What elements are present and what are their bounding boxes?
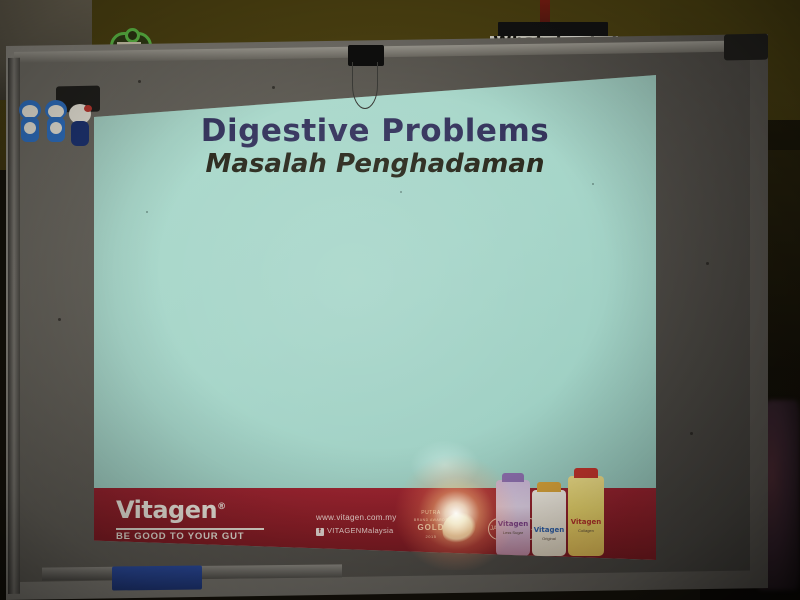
slide-speck bbox=[492, 171, 494, 173]
board-speck bbox=[690, 432, 693, 435]
vitagen-website: www.vitagen.com.my bbox=[316, 513, 397, 522]
marker-tray-item bbox=[112, 566, 202, 591]
vitagen-logo: Vitagen® bbox=[116, 496, 226, 524]
bottle-cap-purple bbox=[502, 473, 524, 482]
vitagen-bottle-white: Vitagen Original bbox=[532, 490, 566, 556]
vitagen-tagline: BE GOOD TO YOUR GUT bbox=[116, 531, 244, 542]
binder-clip-wire bbox=[352, 62, 378, 109]
product-bottles: Vitagen Less Sugar Vitagen Original Vita… bbox=[492, 468, 632, 556]
bottle-label-yellow: Vitagen bbox=[568, 518, 604, 526]
logo-divider bbox=[116, 528, 264, 530]
slide-title: Digestive Problems bbox=[94, 113, 656, 149]
bottle-sublabel-purple: Less Sugar bbox=[496, 530, 530, 535]
magnet-bow bbox=[84, 105, 92, 112]
slide-subtitle: Masalah Penghadaman bbox=[94, 149, 656, 179]
slide-speck bbox=[400, 191, 402, 193]
board-speck bbox=[272, 86, 275, 89]
bottle-label-white: Vitagen bbox=[532, 526, 566, 534]
bottle-cap-yellow bbox=[574, 468, 598, 478]
board-speck bbox=[58, 318, 61, 321]
board-speck bbox=[706, 262, 709, 265]
putra-line3: GOLD bbox=[417, 523, 444, 532]
slide-speck bbox=[146, 211, 148, 213]
whiteboard-corner-top-right bbox=[724, 34, 768, 61]
bottle-label-purple: Vitagen bbox=[496, 520, 530, 528]
magnet-belly bbox=[50, 122, 62, 134]
projected-slide: Digestive Problems Masalah Penghadaman V… bbox=[94, 75, 656, 560]
doraemon-magnet-2 bbox=[44, 100, 68, 144]
bottle-sublabel-yellow: Collagen bbox=[568, 528, 604, 533]
board-speck bbox=[138, 80, 141, 83]
vitagen-bottle-yellow: Vitagen Collagen bbox=[568, 476, 604, 556]
doraemon-magnet-1 bbox=[18, 100, 42, 144]
poster-strap bbox=[540, 0, 550, 24]
slide-speck bbox=[592, 183, 594, 185]
vitagen-facebook: fVITAGENMalaysia bbox=[316, 526, 393, 536]
bottle-cap-white bbox=[537, 482, 561, 492]
registered-mark: ® bbox=[217, 502, 226, 512]
vitagen-brand-text: Vitagen bbox=[116, 496, 217, 524]
hello-kitty-magnet bbox=[68, 104, 92, 148]
magnet-belly bbox=[24, 122, 36, 134]
facebook-icon: f bbox=[316, 528, 324, 536]
bottle-sublabel-white: Original bbox=[532, 536, 566, 541]
classroom-scene: K °C What day is it? bbox=[0, 0, 800, 600]
putra-line1: PUTRA bbox=[412, 510, 450, 517]
magnet-body bbox=[71, 121, 89, 146]
vitagen-bottle-purple: Vitagen Less Sugar bbox=[496, 480, 530, 556]
facebook-handle: VITAGENMalaysia bbox=[327, 526, 393, 535]
